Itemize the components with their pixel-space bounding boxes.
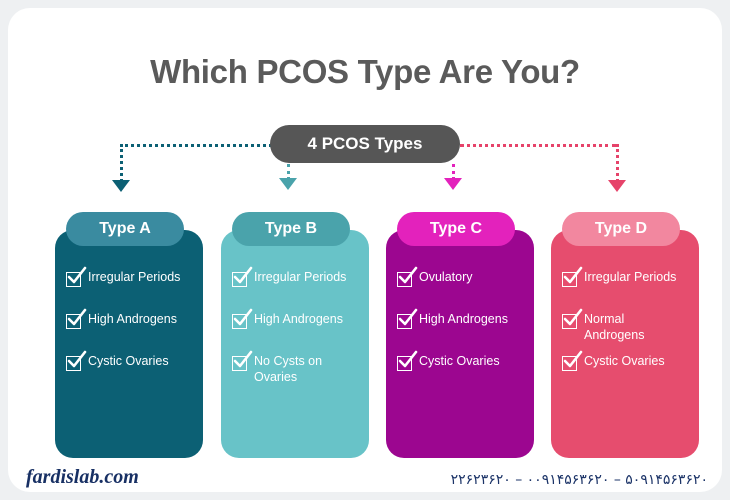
- check-icon: [562, 314, 577, 329]
- list-item-label: Irregular Periods: [584, 270, 676, 286]
- check-icon: [66, 272, 81, 287]
- list-item-label: High Androgens: [88, 312, 177, 328]
- infographic-page: Which PCOS Type Are You? 4 PCOS Types: [0, 0, 730, 500]
- list-item: No Cysts on Ovaries: [232, 354, 369, 396]
- check-icon: [66, 356, 81, 371]
- list-item: Normal Androgens: [562, 312, 699, 354]
- badge-label: 4 PCOS Types: [308, 134, 423, 154]
- pcos-types-badge[interactable]: 4 PCOS Types: [270, 125, 460, 163]
- check-icon: [232, 272, 247, 287]
- list-item-label: Cystic Ovaries: [584, 354, 665, 370]
- card-type-d-title: Type D: [595, 220, 647, 238]
- list-item-label: High Androgens: [254, 312, 343, 328]
- list-item: High Androgens: [397, 312, 534, 354]
- card-type-a-items: Irregular Periods High Androgens Cystic …: [55, 270, 203, 450]
- phone-numbers: ۰۲۶۳۶۵۴۱۹۰۵ – ۰۲۶۳۶۵۴۱۹۰۰ – ۰۲۶۳۲۶۲۲: [451, 472, 708, 488]
- list-item: Ovulatory: [397, 270, 534, 312]
- list-item-label: No Cysts on Ovaries: [254, 354, 356, 385]
- list-item-label: Irregular Periods: [254, 270, 346, 286]
- check-icon: [562, 356, 577, 371]
- list-item: High Androgens: [66, 312, 203, 354]
- list-item: Irregular Periods: [66, 270, 203, 312]
- list-item: Irregular Periods: [232, 270, 369, 312]
- infographic-canvas: Which PCOS Type Are You? 4 PCOS Types: [8, 8, 722, 492]
- check-icon: [397, 272, 412, 287]
- card-type-b-items: Irregular Periods High Androgens No Cyst…: [221, 270, 369, 450]
- list-item-label: Normal Androgens: [584, 312, 686, 343]
- website-label[interactable]: fardislab.com: [26, 466, 139, 489]
- card-type-b-title: Type B: [265, 220, 317, 238]
- card-type-a-header[interactable]: Type A: [66, 212, 184, 246]
- check-icon: [232, 356, 247, 371]
- list-item: High Androgens: [232, 312, 369, 354]
- check-icon: [66, 314, 81, 329]
- list-item-label: Ovulatory: [419, 270, 473, 286]
- check-icon: [397, 314, 412, 329]
- list-item-label: Cystic Ovaries: [88, 354, 169, 370]
- card-type-c-items: Ovulatory High Androgens Cystic Ovaries: [386, 270, 534, 450]
- list-item: Cystic Ovaries: [66, 354, 203, 396]
- card-type-d-header[interactable]: Type D: [562, 212, 680, 246]
- check-icon: [232, 314, 247, 329]
- card-type-b-header[interactable]: Type B: [232, 212, 350, 246]
- check-icon: [562, 272, 577, 287]
- list-item: Cystic Ovaries: [562, 354, 699, 396]
- card-type-a-title: Type A: [99, 220, 151, 238]
- card-type-c-title: Type C: [430, 220, 482, 238]
- list-item-label: High Androgens: [419, 312, 508, 328]
- list-item: Cystic Ovaries: [397, 354, 534, 396]
- list-item-label: Cystic Ovaries: [419, 354, 500, 370]
- list-item: Irregular Periods: [562, 270, 699, 312]
- page-title: Which PCOS Type Are You?: [8, 53, 722, 91]
- card-type-d-items: Irregular Periods Normal Androgens Cysti…: [551, 270, 699, 450]
- check-icon: [397, 356, 412, 371]
- list-item-label: Irregular Periods: [88, 270, 180, 286]
- card-type-c-header[interactable]: Type C: [397, 212, 515, 246]
